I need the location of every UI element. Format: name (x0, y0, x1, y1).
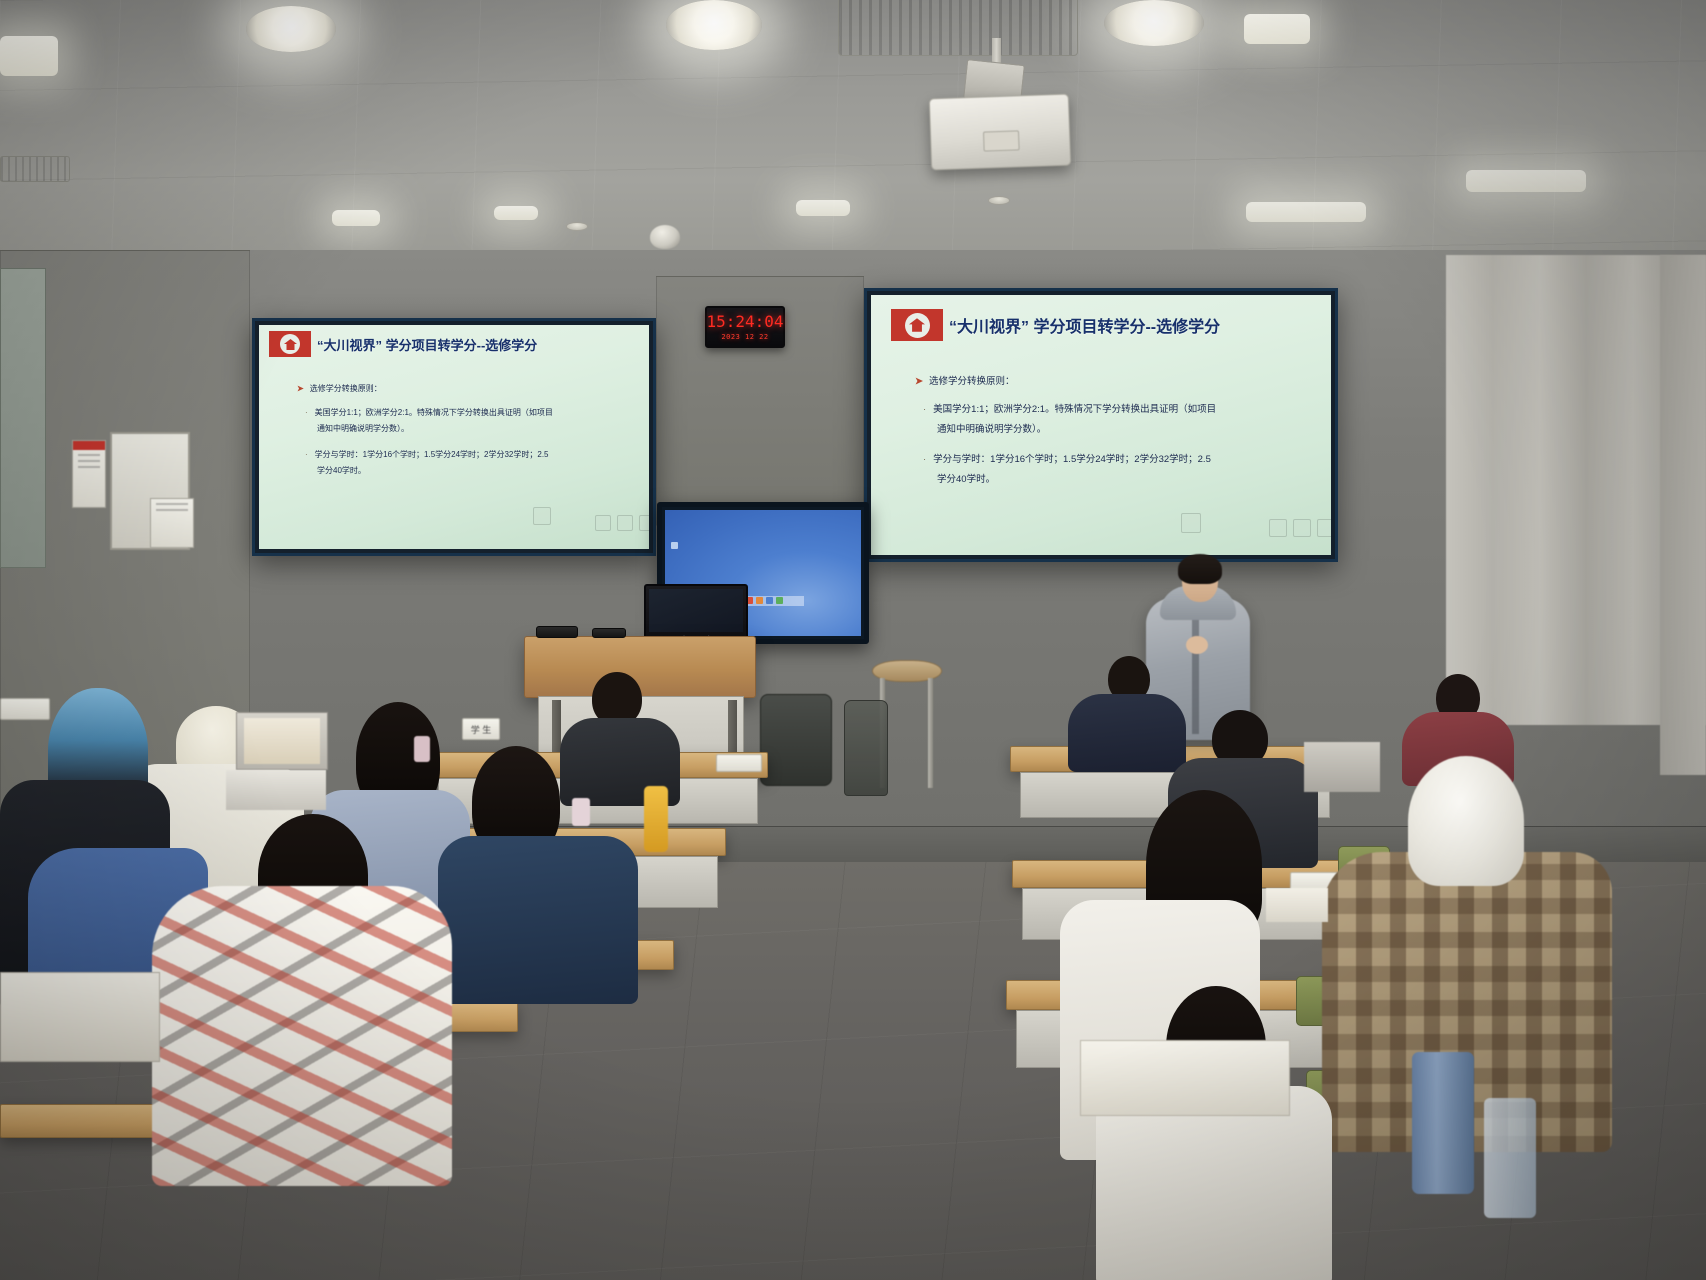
clock-date: 2023 12 22 (721, 333, 768, 341)
laptop[interactable] (1304, 742, 1380, 792)
desk-nameplate (0, 698, 50, 720)
notice-line (156, 509, 188, 511)
smoke-detector-icon (988, 196, 1010, 205)
door (0, 268, 46, 568)
notice-board (72, 440, 106, 508)
ceiling-light (1104, 0, 1204, 46)
podium-device (536, 626, 578, 638)
slide-watermark-icon (639, 515, 649, 531)
notebook[interactable] (1266, 888, 1328, 922)
slide-bullet: ·美国学分1:1；欧洲学分2:1。特殊情况下学分转换出具证明（如项目 (923, 401, 1216, 415)
air-conditioner (838, 0, 1078, 56)
rolling-office-chair (760, 694, 832, 786)
house-icon (909, 318, 925, 332)
slide-watermark-icon (1293, 519, 1311, 537)
document-tray (1080, 1040, 1290, 1116)
smartphone[interactable] (414, 736, 430, 762)
slide-bullet: ·学分与学时：1学分16个学时；1.5学分24学时；2学分32学时；2.5 (923, 451, 1211, 465)
slide-bullet-cont: 通知中明确说明学分数）。 (937, 421, 1046, 435)
clock-time: 15:24:04 (706, 314, 783, 330)
folding-chair (844, 700, 888, 796)
slide-logo (269, 331, 311, 357)
smartphone[interactable] (572, 798, 590, 826)
slide-surface: “大川视界” 学分项目转学分--选修学分 ➤选修学分转换原则： ·美国学分1:1… (871, 295, 1331, 555)
slide-heading-text: 选修学分转换原则： (310, 384, 382, 393)
panda-print-jacket (152, 886, 452, 1186)
slide-watermark-icon (1317, 519, 1331, 537)
ceiling-light (494, 206, 538, 220)
water-bottle[interactable] (1484, 1098, 1536, 1218)
desktop-icon[interactable] (671, 542, 678, 549)
classroom-photo: “大川视界” 学分项目转学分--选修学分 ➤选修学分转换原则： ·美国学分1:1… (0, 0, 1706, 1280)
notice-header-bar (73, 441, 105, 450)
ceiling-light (246, 6, 336, 52)
logo-ring (905, 313, 930, 338)
house-icon (284, 339, 297, 350)
slide-bullet-text: 学分与学时：1学分16个学时；1.5学分24学时；2学分32学时；2.5 (933, 454, 1211, 465)
slide-bullet-cont: 通知中明确说明学分数）。 (317, 423, 409, 434)
digital-clock: 15:24:04 2023 12 22 (705, 306, 785, 348)
slide-bullet-cont: 学分40学时。 (317, 465, 366, 476)
stool-leg (928, 678, 933, 788)
person-plush-hood (1408, 756, 1524, 886)
slide-watermark-icon (1181, 513, 1201, 533)
taskbar-app-icon[interactable] (776, 597, 783, 604)
window-curtain (1660, 255, 1706, 775)
slide-bullet-text: 学分40学时。 (937, 474, 995, 485)
slide-title: “大川视界” 学分项目转学分--选修学分 (317, 335, 537, 354)
slide-bullet: ·美国学分1:1；欧洲学分2:1。特殊情况下学分转换出具证明（如项目 (305, 407, 553, 418)
desk-nameplate (716, 754, 762, 772)
ceiling-vent (0, 156, 70, 182)
dot-bullet-icon: · (305, 450, 308, 459)
taskbar-app-icon[interactable] (766, 597, 773, 604)
notice-board (150, 498, 194, 548)
slide-bullet-text: 美国学分1:1；欧洲学分2:1。特殊情况下学分转换出具证明（如项目 (933, 404, 1216, 415)
laptop-keyboard[interactable] (226, 770, 326, 810)
desk-nameplate: 学 生 (462, 718, 500, 740)
ceiling-light (1244, 14, 1310, 44)
slide-bullet-text: 通知中明确说明学分数）。 (317, 424, 409, 433)
notice-line (78, 454, 100, 456)
person-torso (438, 836, 638, 1004)
presenter-hair (1178, 554, 1222, 584)
taskbar-app-icon[interactable] (756, 597, 763, 604)
projection-screen-right: “大川视界” 学分项目转学分--选修学分 ➤选修学分转换原则： ·美国学分1:1… (864, 288, 1338, 562)
logo-ring (280, 334, 300, 354)
notice-line (156, 503, 188, 505)
slide-bullet-cont: 学分40学时。 (937, 471, 995, 485)
projection-screen-left: “大川视界” 学分项目转学分--选修学分 ➤选修学分转换原则： ·美国学分1:1… (252, 318, 656, 556)
dot-bullet-icon: · (923, 404, 926, 415)
slide-watermark-icon (533, 507, 551, 525)
slide-bullet: ·学分与学时：1学分16个学时；1.5学分24学时；2学分32学时；2.5 (305, 449, 549, 460)
slide-watermark-icon (617, 515, 633, 531)
document-tray (0, 972, 160, 1062)
ceiling-light (332, 210, 380, 226)
ceiling-light (1246, 202, 1366, 222)
notice-line (78, 460, 100, 462)
ceiling-light (0, 36, 58, 76)
dome-camera-icon (650, 225, 680, 249)
podium-device (592, 628, 626, 638)
ceiling-light (796, 200, 850, 216)
ceiling-projector (929, 94, 1071, 171)
ceiling-light (1466, 170, 1586, 192)
dot-bullet-icon: · (923, 454, 926, 465)
laptop-screen-content (244, 718, 320, 764)
ceiling-light (666, 0, 762, 50)
slide-bullet-text: 学分与学时：1学分16个学时；1.5学分24学时；2学分32学时；2.5 (315, 450, 549, 459)
slide-heading-bullet: ➤选修学分转换原则： (297, 383, 382, 394)
slide-watermark-icon (595, 515, 611, 531)
dot-bullet-icon: · (305, 408, 308, 417)
podium-monitor-screen[interactable] (649, 589, 743, 632)
thermos-cup[interactable] (1412, 1052, 1474, 1194)
slide-heading-text: 选修学分转换原则： (929, 376, 1015, 387)
slide-bullet-text: 通知中明确说明学分数）。 (937, 424, 1046, 435)
arrow-bullet-icon: ➤ (915, 376, 923, 387)
slide-logo (891, 309, 943, 341)
water-bottle[interactable] (644, 786, 668, 852)
slide-watermark-icon (1269, 519, 1287, 537)
slide-title: “大川视界” 学分项目转学分--选修学分 (949, 313, 1220, 337)
arrow-bullet-icon: ➤ (297, 384, 304, 393)
slide-heading-bullet: ➤选修学分转换原则： (915, 373, 1014, 387)
slide-bullet-text: 美国学分1:1；欧洲学分2:1。特殊情况下学分转换出具证明（如项目 (315, 408, 553, 417)
notice-line (78, 466, 100, 468)
slide-bullet-text: 学分40学时。 (317, 466, 366, 475)
slide-surface: “大川视界” 学分项目转学分--选修学分 ➤选修学分转换原则： ·美国学分1:1… (259, 325, 649, 549)
smoke-detector-icon (566, 222, 588, 231)
presenter-hand (1186, 636, 1208, 654)
person-torso (1068, 694, 1186, 772)
